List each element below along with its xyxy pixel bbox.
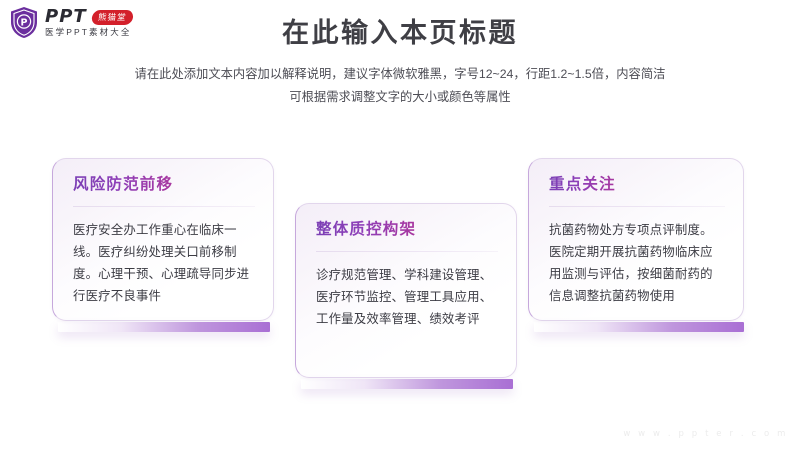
- slide-root: P PPT 熊猫堂 医学PPT素材大全 在此输入本页标题 请在此处添加文本内容加…: [0, 0, 800, 450]
- card-quality-framework[interactable]: 整体质控构架 诊疗规范管理、学科建设管理、医疗环节监控、管理工具应用、工作量及效…: [295, 203, 517, 378]
- site-watermark: w w w . p p t e r . c o m: [623, 429, 788, 439]
- card-body: 医疗安全办工作重心在临床一线。医疗纠纷处理关口前移制度。心理干预、心理疏导同步进…: [73, 219, 255, 307]
- card-content: 整体质控构架 诊疗规范管理、学科建设管理、医疗环节监控、管理工具应用、工作量及效…: [296, 204, 516, 340]
- card-divider: [73, 206, 255, 207]
- card-title: 重点关注: [549, 175, 616, 195]
- page-title: 在此输入本页标题: [0, 17, 800, 49]
- card-divider: [549, 206, 725, 207]
- card-accent-bar: [534, 322, 744, 332]
- card-body: 抗菌药物处方专项点评制度。医院定期开展抗菌药物临床应用监测与评估，按细菌耐药的信…: [549, 219, 725, 307]
- card-title: 整体质控构架: [316, 220, 416, 240]
- card-divider: [316, 251, 498, 252]
- card-key-focus[interactable]: 重点关注 抗菌药物处方专项点评制度。医院定期开展抗菌药物临床应用监测与评估，按细…: [528, 158, 744, 321]
- card-title: 风险防范前移: [73, 175, 173, 195]
- card-risk-prevention[interactable]: 风险防范前移 医疗安全办工作重心在临床一线。医疗纠纷处理关口前移制度。心理干预、…: [52, 158, 274, 321]
- card-body: 诊疗规范管理、学科建设管理、医疗环节监控、管理工具应用、工作量及效率管理、绩效考…: [316, 264, 498, 330]
- card-content: 风险防范前移 医疗安全办工作重心在临床一线。医疗纠纷处理关口前移制度。心理干预、…: [53, 159, 273, 317]
- subtitle-line-2: 可根据需求调整文字的大小或颜色等属性: [80, 86, 720, 109]
- card-accent-bar: [301, 379, 513, 389]
- subtitle-line-1: 请在此处添加文本内容加以解释说明，建议字体微软雅黑，字号12~24，行距1.2~…: [80, 63, 720, 86]
- card-accent-bar: [58, 322, 270, 332]
- card-content: 重点关注 抗菌药物处方专项点评制度。医院定期开展抗菌药物临床应用监测与评估，按细…: [529, 159, 743, 317]
- page-subtitle: 请在此处添加文本内容加以解释说明，建议字体微软雅黑，字号12~24，行距1.2~…: [80, 63, 720, 108]
